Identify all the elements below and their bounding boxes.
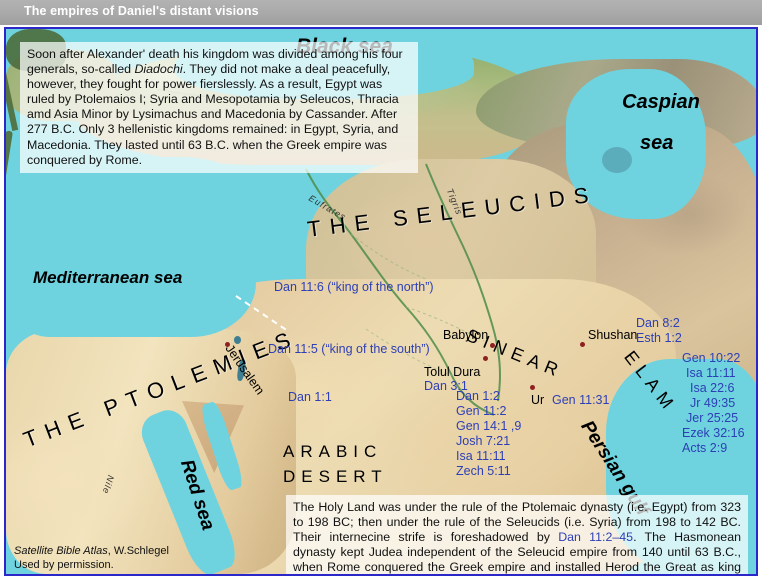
map-frame: Black sea Caspian sea Mediterranean sea … bbox=[4, 27, 758, 576]
city-label-tolul-dura: Tolul Dura bbox=[424, 365, 480, 379]
reference-dan-8-2: Dan 8:2 bbox=[636, 316, 680, 330]
textbox-diadochi-text: Soon after Alexander' death his kingdom … bbox=[27, 47, 403, 167]
reference-gen-10-22: Gen 10:22 bbox=[682, 351, 740, 365]
reference-gen-14-1-9: Gen 14:1 ,9 bbox=[456, 419, 521, 433]
sea-label-caspian-line1: Caspian bbox=[622, 91, 700, 114]
annotation-king-of-the-north: Dan 11:6 (“king of the north”) bbox=[274, 280, 434, 294]
textbox-holy-land-reference: Dan 11:2–45 bbox=[558, 530, 633, 544]
reference-jr-49-35: Jr 49:35 bbox=[690, 396, 735, 410]
reference-dan-1-1: Dan 1:1 bbox=[288, 390, 332, 404]
textbox-diadochi-italic: Diadochi bbox=[134, 62, 182, 76]
reference-isa-11-11-elam: Isa 11:11 bbox=[686, 366, 736, 380]
annotation-king-of-the-south: Dan 11:5 (“king of the south”) bbox=[268, 342, 430, 356]
city-dot-ur bbox=[530, 385, 535, 390]
credit-atlas-title: Satellite Bible Atlas bbox=[14, 545, 108, 557]
reference-josh-7-21: Josh 7:21 bbox=[456, 434, 510, 448]
reference-esth-1-2: Esth 1:2 bbox=[636, 331, 682, 345]
reference-isa-22-6: Isa 22:6 bbox=[690, 381, 734, 395]
reference-jer-25-25: Jer 25:25 bbox=[686, 411, 738, 425]
city-dot-shushan bbox=[580, 342, 585, 347]
textbox-diadochi: Soon after Alexander' death his kingdom … bbox=[20, 42, 418, 173]
region-label-desert: DESERT bbox=[283, 467, 388, 487]
reference-ur: Gen 11:31 bbox=[552, 393, 609, 407]
map-page: The empires of Daniel's distant visions bbox=[0, 0, 762, 580]
city-dot-babylon-secondary bbox=[483, 356, 488, 361]
city-label-ur: Ur bbox=[531, 393, 544, 407]
map-canvas[interactable]: Black sea Caspian sea Mediterranean sea … bbox=[6, 29, 756, 574]
city-label-babylon: Babylon bbox=[443, 328, 488, 342]
reference-gen-11-2: Gen 11:2 bbox=[456, 404, 507, 418]
credit-author: , W.Schlegel bbox=[108, 545, 169, 557]
reference-dan-1-2: Dan 1:2 bbox=[456, 389, 500, 403]
reference-zech-5-11: Zech 5:11 bbox=[456, 464, 511, 478]
reference-ezek-32-16: Ezek 32:16 bbox=[682, 426, 745, 440]
city-dot-jerusalem bbox=[225, 342, 230, 347]
reference-acts-2-9: Acts 2:9 bbox=[682, 441, 727, 455]
reference-isa-11-11-center: Isa 11:11 bbox=[456, 449, 506, 463]
city-dot-babylon bbox=[490, 343, 495, 348]
sea-label-mediterranean: Mediterranean sea bbox=[33, 268, 182, 288]
sea-label-caspian-line2: sea bbox=[640, 132, 673, 155]
region-label-arabic: ARABIC bbox=[283, 442, 382, 462]
window-title-bar: The empires of Daniel's distant visions bbox=[0, 0, 762, 25]
city-label-shushan: Shushan bbox=[588, 328, 637, 342]
credit-line-2: Used by permission. bbox=[14, 558, 114, 572]
textbox-holy-land: The Holy Land was under the rule of the … bbox=[286, 495, 748, 574]
page-title: The empires of Daniel's distant visions bbox=[24, 4, 259, 18]
credit-line-1: Satellite Bible Atlas, W.Schlegel bbox=[14, 544, 169, 558]
